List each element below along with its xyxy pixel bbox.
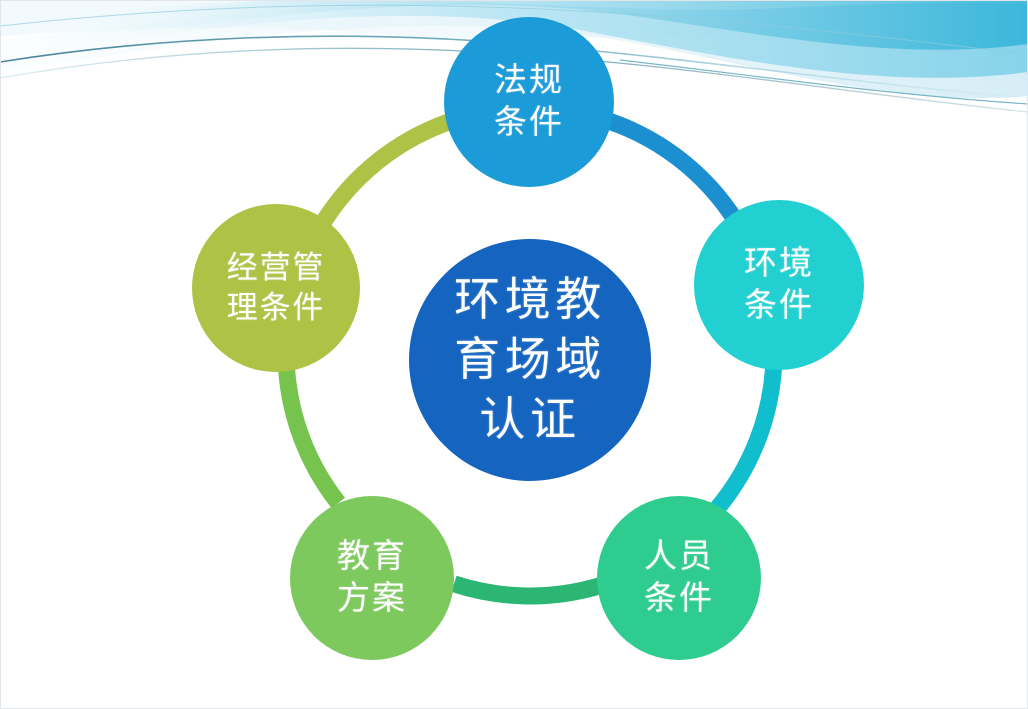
center-node-line-3: 认证	[479, 390, 580, 450]
node-environment-line-1: 环境	[744, 243, 814, 285]
arc-management-to-regulation	[322, 120, 456, 226]
arc-education-plan-to-management	[286, 365, 338, 503]
arc-regulation-to-environment	[602, 119, 736, 221]
node-personnel[interactable]: 人员 条件	[597, 496, 761, 660]
node-management[interactable]: 经营管 理条件	[192, 204, 360, 372]
node-personnel-line-1: 人员	[644, 536, 714, 578]
node-management-line-1: 经营管	[227, 248, 326, 288]
arc-personnel-to-education-plan	[454, 584, 600, 596]
node-regulation[interactable]: 法规 条件	[444, 17, 614, 187]
center-node-line-1: 环境教	[454, 270, 606, 330]
node-environment-line-2: 条件	[744, 285, 814, 327]
node-management-line-2: 理条件	[227, 288, 326, 328]
center-node-line-2: 育场域	[454, 330, 606, 390]
node-environment[interactable]: 环境 条件	[694, 200, 864, 370]
slide-canvas: 环境教 育场域 认证 法规 条件 环境 条件 人员 条件 教育 方案 经营管 理…	[0, 0, 1028, 709]
node-education-plan[interactable]: 教育 方案	[290, 496, 454, 660]
arc-environment-to-personnel	[717, 362, 773, 508]
node-regulation-line-1: 法规	[494, 60, 564, 102]
center-node[interactable]: 环境教 育场域 认证	[409, 239, 651, 481]
node-education-plan-line-1: 教育	[337, 536, 407, 578]
node-regulation-line-2: 条件	[494, 102, 564, 144]
node-education-plan-line-2: 方案	[337, 578, 407, 620]
node-personnel-line-2: 条件	[644, 578, 714, 620]
